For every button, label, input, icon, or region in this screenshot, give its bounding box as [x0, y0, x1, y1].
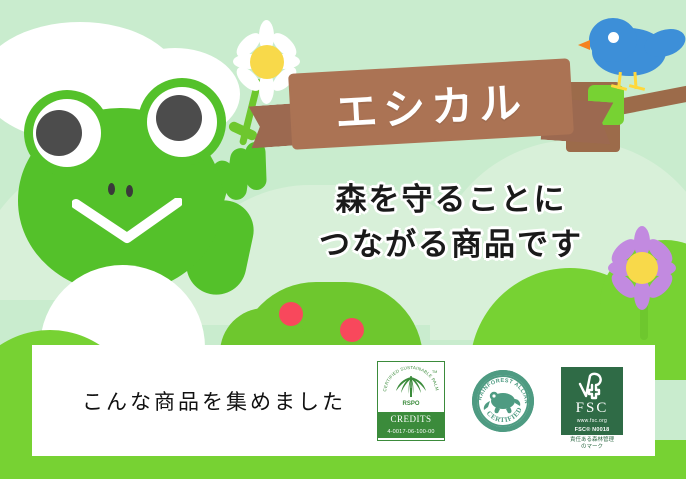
fsc-url: www.fsc.org [577, 418, 607, 424]
fsc-code: FSC® N0018 [575, 427, 610, 433]
headline: 森を守ることに つながる商品です [286, 178, 616, 268]
rspo-code: 4-0017-06-100-00 [378, 427, 444, 438]
ribbon-label: エシカル [290, 60, 572, 147]
bird-eye [608, 32, 619, 43]
fsc-title: FSC [576, 401, 609, 416]
berry [279, 302, 303, 326]
frog-pupil-right [156, 95, 202, 141]
frog-pupil-left [36, 110, 82, 156]
fsc-tree-checkmark-icon [577, 372, 607, 400]
panel-label: こんな商品を集めました [82, 386, 346, 416]
fsc-caption: 責任ある森林管理 のマーク [561, 437, 623, 452]
product-panel: こんな商品を集めました CERTIFIED SUSTAINABLE PALM O… [32, 345, 655, 456]
rspo-credits-label: CREDITS [378, 412, 444, 427]
frog-mouth [72, 198, 182, 246]
ethical-product-banner: エシカル 森を守ることに つながる商品です こんな商品を集めました CERTIF… [0, 0, 686, 479]
fsc-logo[interactable]: FSC www.fsc.org FSC® N0018 [561, 367, 623, 435]
frog-nostril [126, 185, 133, 197]
rainforest-alliance-logo[interactable]: RAINFOREST ALLIANCE CERTIFIED [470, 368, 536, 434]
bird-beak [578, 40, 590, 50]
svg-text:TM: TM [432, 370, 437, 374]
rspo-mark: RSPO [402, 401, 419, 407]
fsc-caption-line-2: のマーク [561, 444, 623, 451]
rspo-emblem: CERTIFIED SUSTAINABLE PALM OIL TM [378, 362, 444, 412]
rainforest-alliance-seal: RAINFOREST ALLIANCE CERTIFIED [470, 368, 536, 434]
headline-line-2: つながる商品です [286, 223, 616, 268]
rspo-arc-text: CERTIFIED SUSTAINABLE PALM OIL TM [381, 364, 441, 412]
berry [340, 318, 364, 342]
certification-logos: CERTIFIED SUSTAINABLE PALM OIL TM [377, 361, 623, 441]
palm-tree-icon [396, 376, 426, 397]
fsc-caption-line-1: 責任ある森林管理 [561, 437, 623, 444]
frog-nostril [108, 183, 115, 195]
purple-flower-center [626, 252, 658, 284]
headline-line-1: 森を守ることに [286, 178, 616, 223]
rspo-logo[interactable]: CERTIFIED SUSTAINABLE PALM OIL TM [377, 361, 445, 441]
ribbon-banner: エシカル [250, 52, 610, 164]
fsc-logo-wrap: FSC www.fsc.org FSC® N0018 責任ある森林管理 のマーク [561, 367, 623, 435]
